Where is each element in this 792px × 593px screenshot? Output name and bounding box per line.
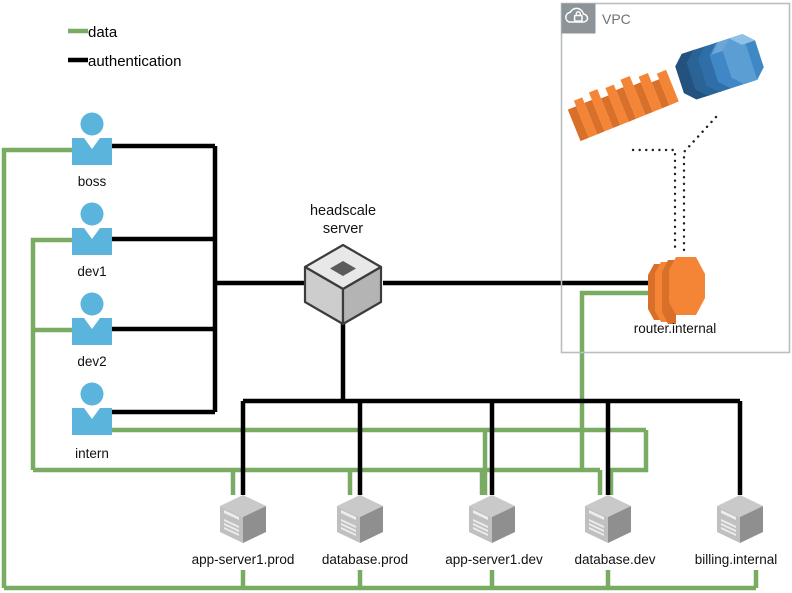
- headscale-title-line1: headscale: [310, 203, 376, 219]
- server-label-database-prod: database.prod: [322, 552, 408, 567]
- vpc-dotted-links: [633, 117, 716, 250]
- server-icon: [337, 495, 383, 543]
- dotted-link-rds-router: [684, 117, 716, 250]
- server-app-server1-dev[interactable]: app-server1.dev: [445, 495, 543, 567]
- server-label-app-server1-prod: app-server1.prod: [192, 552, 295, 567]
- user-dev2[interactable]: dev2: [72, 293, 112, 370]
- router-icon: [648, 257, 705, 324]
- server-icon: [469, 495, 515, 543]
- person-icon: [72, 113, 112, 166]
- diagram-canvas: data authentication VPC: [0, 0, 792, 593]
- server-label-app-server1-dev: app-server1.dev: [445, 552, 543, 567]
- network-diagram: data authentication VPC: [0, 0, 792, 593]
- legend-label-data: data: [88, 24, 118, 41]
- server-label-database-dev: database.dev: [574, 552, 655, 567]
- person-icon: [72, 203, 112, 256]
- user-label-dev1: dev1: [77, 264, 106, 279]
- user-label-dev2: dev2: [77, 354, 106, 369]
- server-label-billing-internal: billing.internal: [695, 552, 778, 567]
- user-dev1[interactable]: dev1: [72, 203, 112, 280]
- legend-label-authentication: authentication: [88, 53, 181, 70]
- data-intern-drop-dbdev: [611, 430, 646, 495]
- server-icon: [220, 495, 266, 543]
- data-link-boss: [4, 150, 72, 588]
- person-icon: [72, 383, 112, 436]
- user-intern[interactable]: intern: [72, 383, 112, 462]
- headscale-title-line2: server: [323, 221, 363, 237]
- user-label-boss: boss: [78, 174, 107, 189]
- headscale-server[interactable]: headscale server: [305, 203, 381, 324]
- data-link-router: [582, 293, 648, 470]
- ec2-instances-icon: [565, 63, 679, 142]
- server-billing-internal[interactable]: billing.internal: [695, 495, 778, 567]
- rds-database-icon: [672, 31, 767, 103]
- server-app-server1-prod[interactable]: app-server1.prod: [192, 495, 295, 567]
- server-icon: [717, 495, 763, 543]
- server-database-prod[interactable]: database.prod: [322, 495, 408, 567]
- user-label-intern: intern: [75, 446, 109, 461]
- legend: data authentication: [68, 24, 181, 70]
- vpc-label: VPC: [602, 11, 631, 27]
- data-link-dev1: [33, 240, 72, 470]
- router-label: router.internal: [634, 321, 717, 336]
- user-boss[interactable]: boss: [72, 113, 112, 190]
- dotted-link-ec2-router: [633, 150, 675, 250]
- server-icon: [585, 495, 631, 543]
- person-icon: [72, 293, 112, 346]
- server-database-dev[interactable]: database.dev: [574, 495, 655, 567]
